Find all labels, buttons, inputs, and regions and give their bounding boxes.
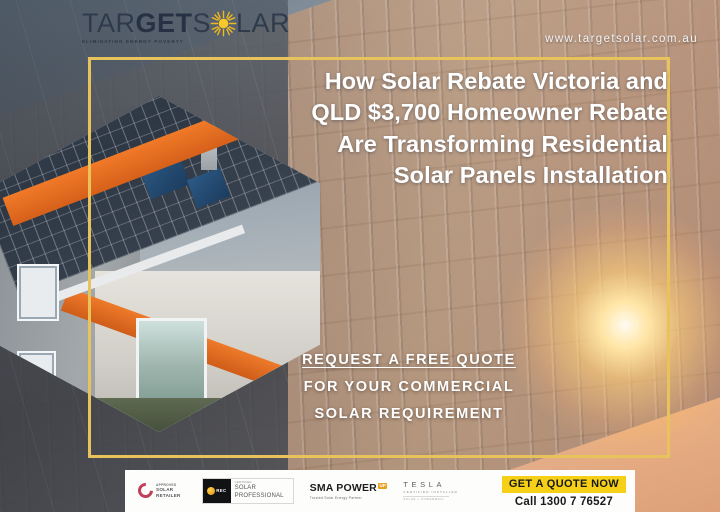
tesla-subtitle-1: CERTIFIED INSTALLER bbox=[403, 490, 458, 494]
headline-line-2: QLD $3,700 Homeowner Rebate bbox=[238, 97, 668, 128]
get-a-quote-now-button[interactable]: GET A QUOTE NOW bbox=[502, 476, 626, 493]
phone-number[interactable]: Call 1300 7 76527 bbox=[502, 496, 626, 508]
cta-line-for-your-commercial: FOR YOUR COMMERCIAL bbox=[272, 379, 546, 395]
brand-tagline: ELIMINATING ENERGY POVERTY bbox=[82, 39, 290, 44]
badge-tesla-certified-installer: TESLA CERTIFIED INSTALLER SOLAR + POWERW… bbox=[403, 480, 458, 502]
house-window-upper bbox=[17, 264, 59, 321]
badge-sma-power-up: SMA POWER UP Trusted Solar Energy Partne… bbox=[310, 482, 388, 500]
sma-name-row: SMA POWER UP bbox=[310, 482, 388, 495]
logo-text-lar: LAR bbox=[236, 10, 290, 37]
rec-sun-icon bbox=[207, 487, 215, 495]
sma-sup: UP bbox=[378, 483, 387, 489]
sun-burst-icon bbox=[210, 10, 237, 37]
logo-text-s: S bbox=[193, 10, 212, 37]
website-url[interactable]: www.targetsolar.com.au bbox=[545, 33, 698, 45]
footer-badge-bar: APPROVED SOLAR RETAILER REC CERTIFIED SO… bbox=[125, 470, 635, 512]
headline-line-3: Are Transforming Residential bbox=[238, 129, 668, 160]
rec-logo-block: REC bbox=[203, 479, 231, 502]
badge-clean-energy-council: APPROVED SOLAR RETAILER bbox=[138, 483, 181, 498]
rec-badge-text: CERTIFIED SOLAR PROFESSIONAL bbox=[231, 479, 293, 502]
tesla-subtitle-2: SOLAR + POWERWALL bbox=[403, 498, 458, 502]
c-arc-icon bbox=[135, 480, 156, 501]
cta-line-request-free-quote[interactable]: REQUEST A FREE QUOTE bbox=[272, 352, 546, 368]
logo-text-tar: TAR bbox=[82, 10, 136, 37]
header: TARGETSLAR ELIMINATING ENERGY POVERTY ww… bbox=[0, 0, 720, 57]
rec-mark: REC bbox=[216, 488, 226, 493]
cta-line-solar-requirement: SOLAR REQUIREMENT bbox=[272, 406, 546, 422]
rec-line-2: PROFESSIONAL bbox=[235, 493, 289, 501]
headline-line-1: How Solar Rebate Victoria and bbox=[238, 66, 668, 97]
logo-text-get: GET bbox=[136, 10, 193, 37]
footer-quote-block: GET A QUOTE NOW Call 1300 7 76527 bbox=[502, 474, 626, 508]
tesla-divider bbox=[403, 496, 449, 497]
cec-line-3: RETAILER bbox=[156, 493, 181, 499]
headline-line-4: Solar Panels Installation bbox=[238, 160, 668, 191]
sma-name: SMA POWER bbox=[310, 482, 377, 495]
badge-rec-certified: REC CERTIFIED SOLAR PROFESSIONAL bbox=[202, 478, 294, 503]
headline: How Solar Rebate Victoria and QLD $3,700… bbox=[238, 66, 668, 191]
cec-badge-text: APPROVED SOLAR RETAILER bbox=[156, 483, 181, 498]
rec-line-1: SOLAR bbox=[235, 485, 289, 493]
brand-logo[interactable]: TARGETSLAR ELIMINATING ENERGY POVERTY bbox=[82, 10, 290, 44]
cta-message: REQUEST A FREE QUOTE FOR YOUR COMMERCIAL… bbox=[272, 352, 546, 422]
brand-logo-wordmark: TARGETSLAR bbox=[82, 10, 290, 37]
tesla-name: TESLA bbox=[403, 480, 458, 490]
sma-subtitle: Trusted Solar Energy Partner bbox=[310, 496, 388, 500]
